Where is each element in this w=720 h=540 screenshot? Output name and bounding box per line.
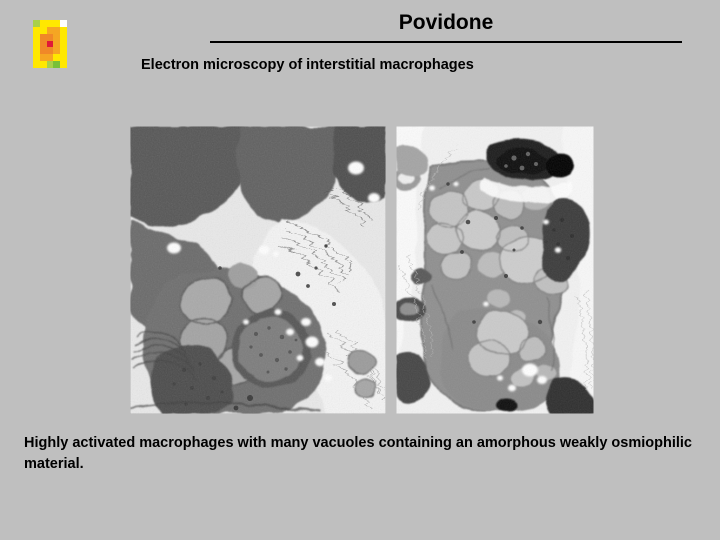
logo-cell-white (60, 20, 67, 27)
em-micrograph-right-graphic (396, 126, 594, 414)
logo-cell-yellow (53, 54, 60, 61)
logo-cell-orange_light (53, 47, 60, 54)
logo-cell-orange (47, 34, 54, 41)
slide-subtitle: Electron microscopy of interstitial macr… (141, 56, 474, 74)
logo-cell-orange_light (47, 27, 54, 34)
logo-cell-orange_light (40, 54, 47, 61)
logo-cell-light_green (33, 20, 40, 27)
nested-squares-logo (33, 20, 67, 68)
logo-cell-yellow (60, 27, 67, 34)
page-title: Povidone (210, 11, 682, 35)
logo-cell-yellow (33, 41, 40, 48)
slide-caption: Highly activated macrophages with many v… (24, 433, 700, 475)
logo-cell-yellow (53, 20, 60, 27)
logo-cell-yellow (60, 61, 67, 68)
logo-cell-light_green (47, 61, 54, 68)
logo-cell-yellow (40, 27, 47, 34)
logo-cell-orange_light (53, 34, 60, 41)
logo-cell-yellow (60, 34, 67, 41)
logo-cell-orange (40, 34, 47, 41)
logo-cell-orange (40, 47, 47, 54)
logo-cell-yellow (40, 20, 47, 27)
slide-canvas: Povidone Electron microscopy of intersti… (0, 0, 720, 540)
logo-cell-orange (47, 47, 54, 54)
logo-cell-yellow (33, 47, 40, 54)
logo-cell-yellow (60, 54, 67, 61)
logo-cell-yellow (33, 27, 40, 34)
logo-cell-yellow (60, 47, 67, 54)
title-divider (210, 41, 682, 43)
logo-cell-orange_light (47, 54, 54, 61)
logo-cell-yellow (33, 61, 40, 68)
logo-cell-orange_light (53, 41, 60, 48)
logo-cell-yellow (40, 61, 47, 68)
logo-cell-green (53, 61, 60, 68)
logo-cell-orange (40, 41, 47, 48)
logo-cell-red (47, 41, 54, 48)
em-micrograph-right (396, 126, 594, 414)
logo-cell-orange_light (53, 27, 60, 34)
em-micrograph-left (130, 126, 386, 414)
logo-cell-yellow (47, 20, 54, 27)
logo-cell-yellow (60, 41, 67, 48)
logo-cell-yellow (33, 34, 40, 41)
logo-cell-yellow (33, 54, 40, 61)
em-micrograph-left-graphic (130, 126, 386, 414)
